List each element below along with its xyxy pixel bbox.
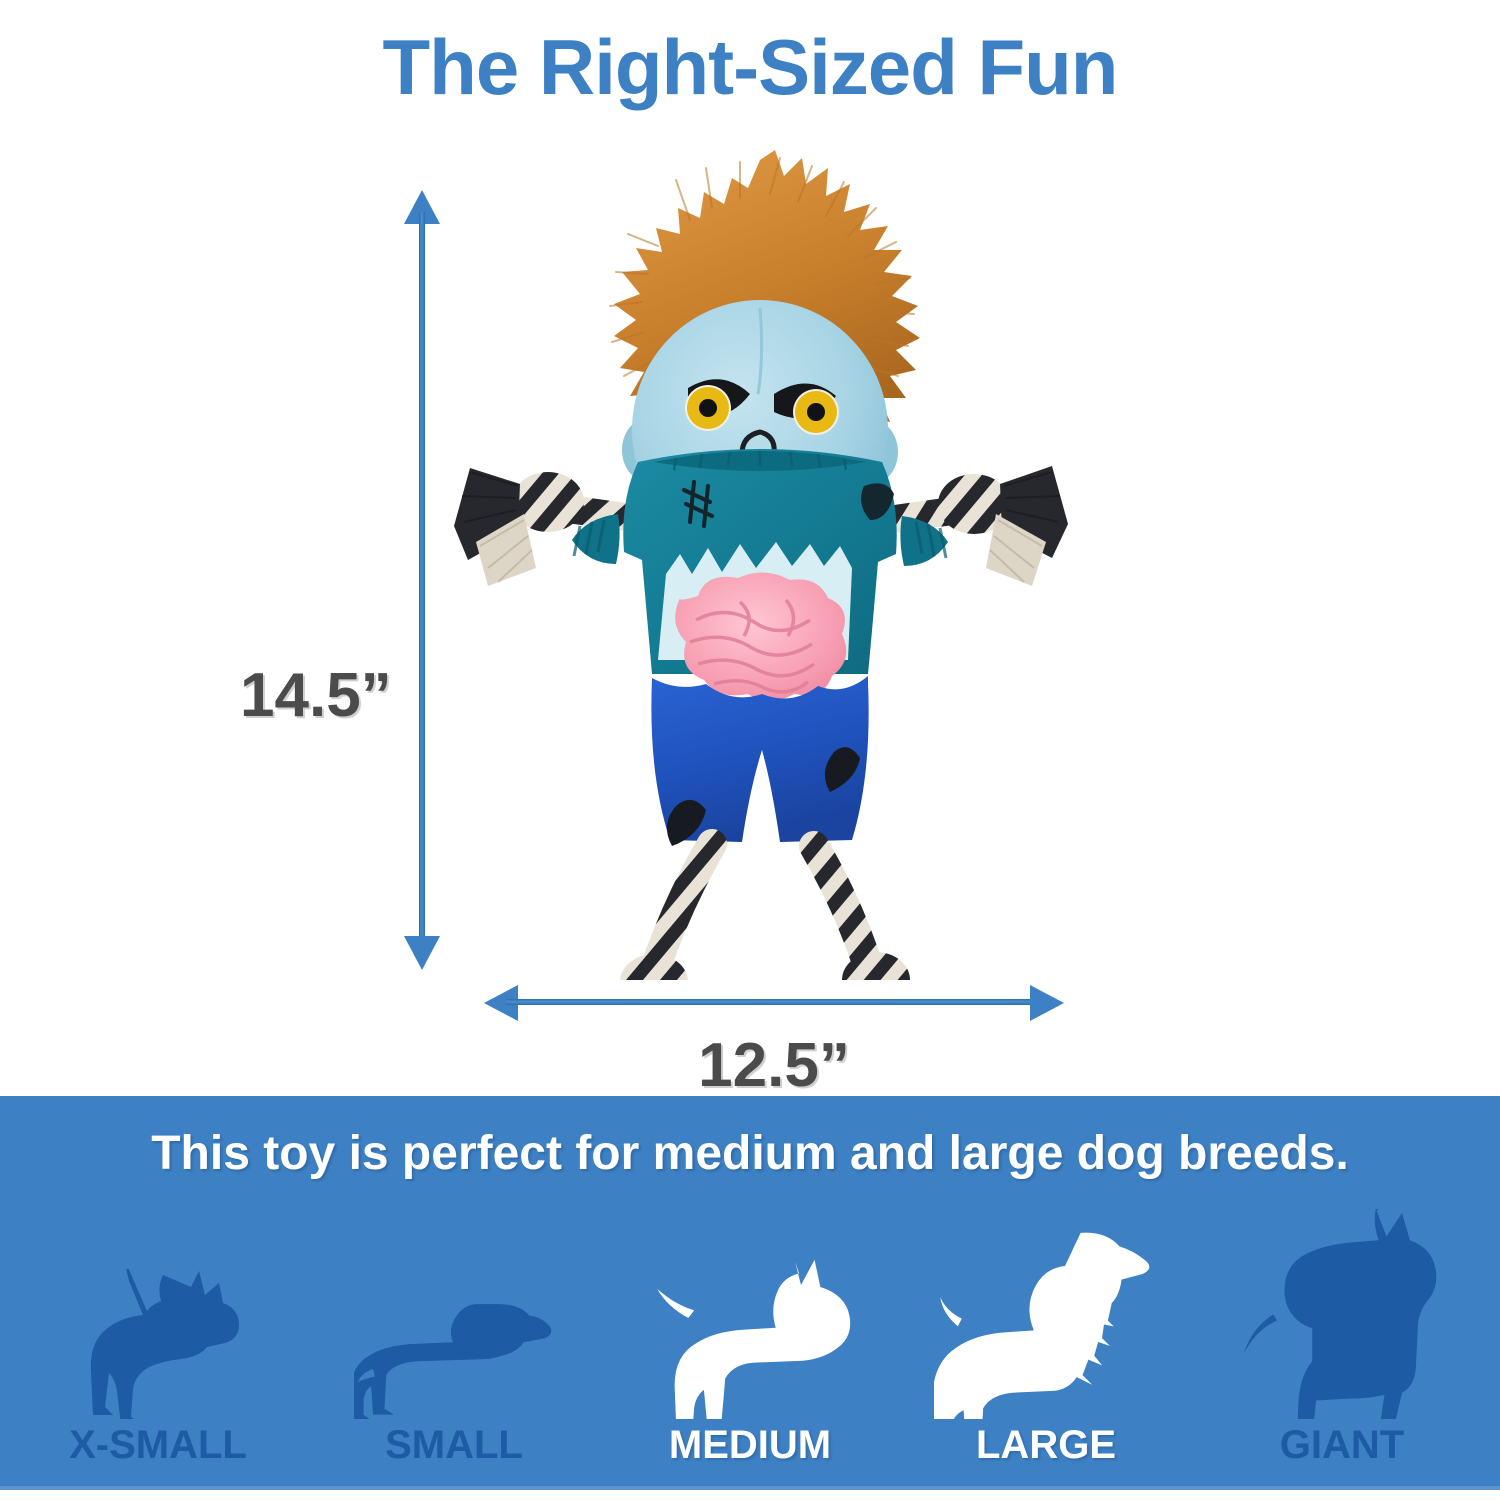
height-dimension-arrow — [404, 190, 440, 970]
golden-retriever-dog-icon — [934, 1219, 1159, 1419]
height-dimension-label: 14.5” — [240, 660, 392, 731]
chihuahua-dog-icon — [73, 1219, 243, 1419]
size-item-small[interactable]: SMALL — [306, 1192, 602, 1484]
arrow-horizontal-shaft — [506, 999, 1042, 1005]
size-label-giant: GIANT — [1280, 1423, 1404, 1468]
dachshund-dog-icon — [354, 1219, 554, 1419]
size-item-giant[interactable]: GIANT — [1194, 1192, 1490, 1484]
great-dane-dog-icon — [1230, 1219, 1455, 1419]
width-dimension-label: 12.5” — [484, 1030, 1064, 1101]
size-label-large: LARGE — [976, 1423, 1116, 1468]
arrow-right-head-icon — [1030, 985, 1064, 1021]
arrow-down-head-icon — [404, 936, 440, 970]
breed-size-banner: This toy is perfect for medium and large… — [0, 1096, 1500, 1490]
bull-terrier-dog-icon — [643, 1219, 858, 1419]
size-label-x-small: X-SMALL — [69, 1423, 247, 1468]
product-stage: 14.5” 12.5” — [0, 150, 1500, 1090]
size-label-small: SMALL — [385, 1423, 523, 1468]
toy-leg-right-rope — [814, 846, 946, 980]
product-image-zombie-rope-toy — [440, 150, 1080, 980]
banner-headline: This toy is perfect for medium and large… — [0, 1126, 1500, 1181]
breed-size-scale: X-SMALL SMALL MEDIUM — [0, 1192, 1500, 1484]
toy-leg-left-rope — [606, 844, 712, 980]
size-item-medium[interactable]: MEDIUM — [602, 1192, 898, 1484]
page-title: The Right-Sized Fun — [0, 28, 1500, 106]
size-item-x-small[interactable]: X-SMALL — [10, 1192, 306, 1484]
arrow-vertical-shaft — [419, 212, 425, 948]
toy-body — [572, 449, 948, 846]
width-dimension-arrow — [484, 985, 1064, 1023]
size-item-large[interactable]: LARGE — [898, 1192, 1194, 1484]
size-label-medium: MEDIUM — [669, 1423, 831, 1468]
